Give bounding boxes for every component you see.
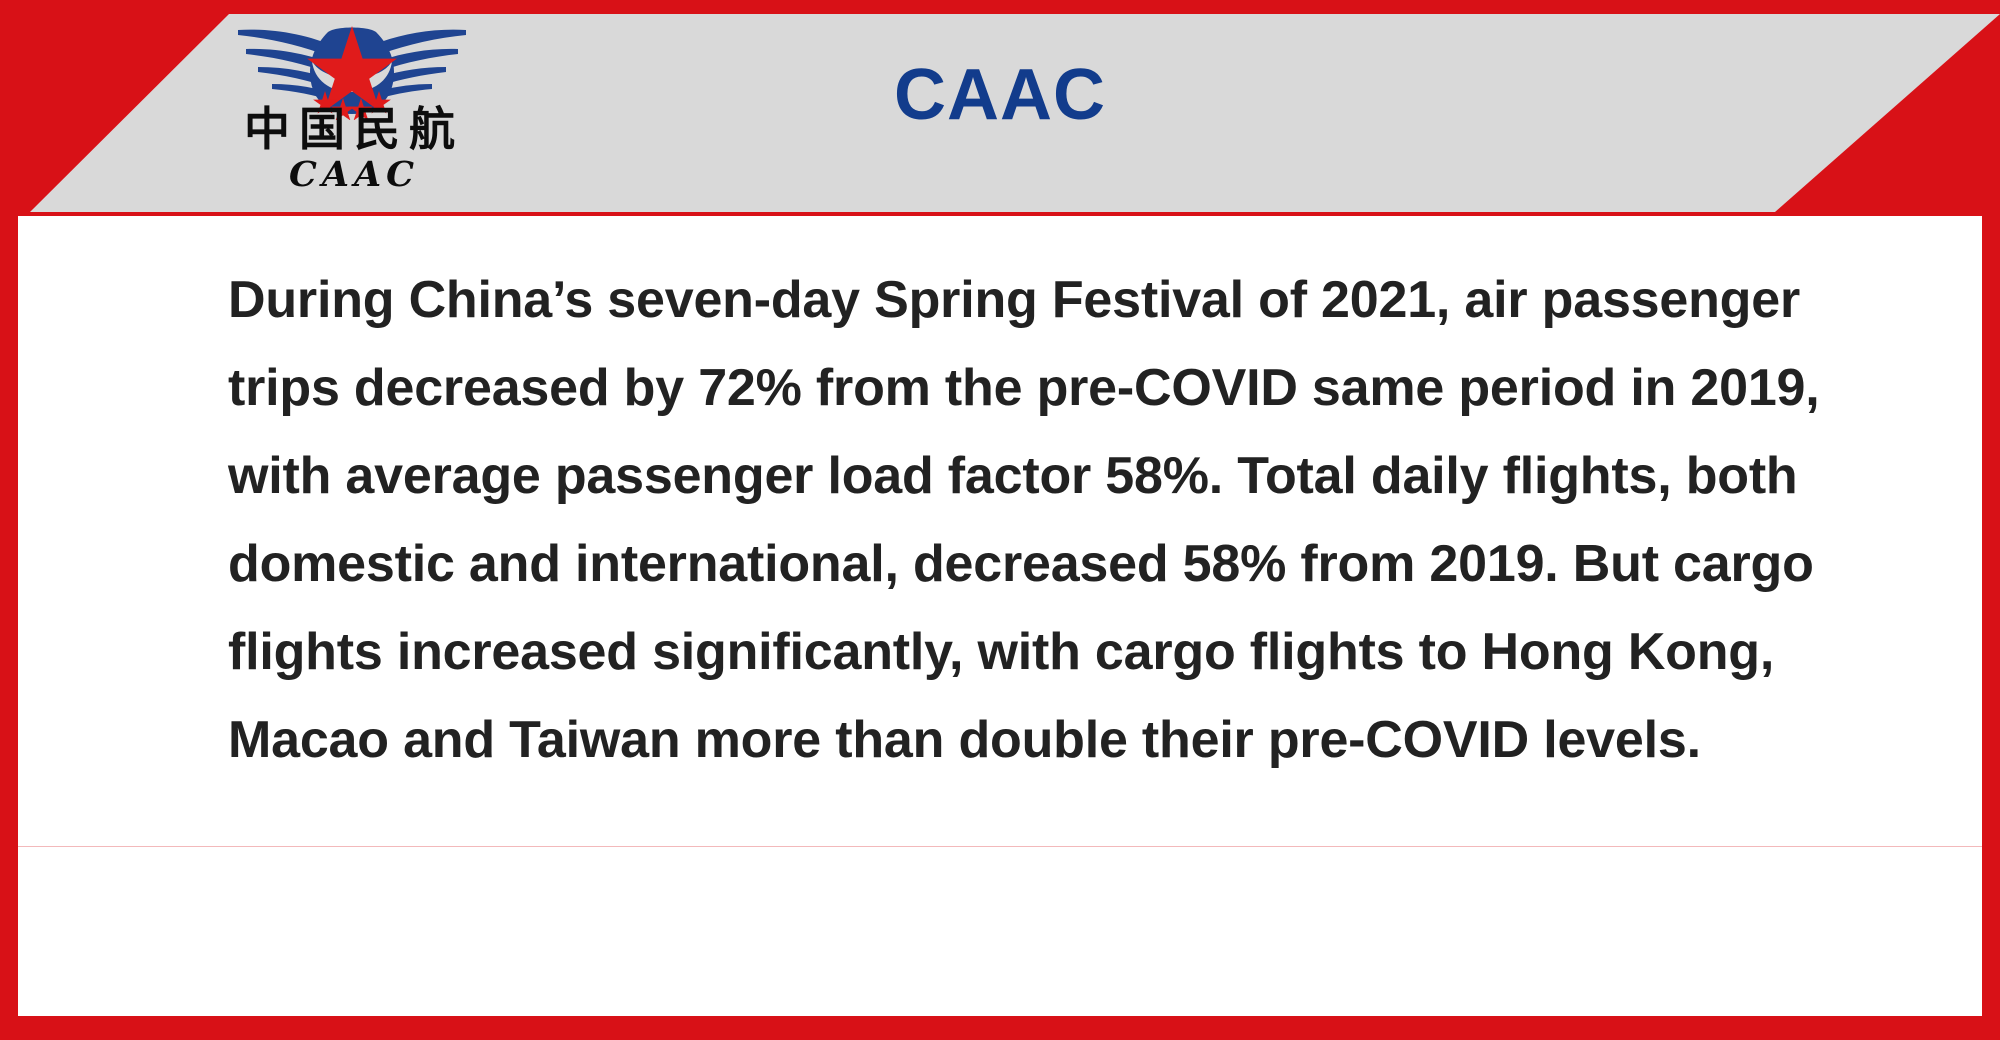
caac-logo: 中国民航 CAAC	[232, 14, 472, 204]
logo-chinese-wordmark: 中国民航	[238, 100, 470, 158]
divider-hairline	[18, 846, 1982, 847]
slide-root: CAAC	[0, 0, 2000, 1040]
body-paragraph: During China’s seven-day Spring Festival…	[228, 256, 1848, 784]
content-card: During China’s seven-day Spring Festival…	[18, 216, 1982, 1016]
header-band: CAAC	[0, 0, 2000, 212]
logo-latin-wordmark: CAAC	[238, 154, 470, 195]
